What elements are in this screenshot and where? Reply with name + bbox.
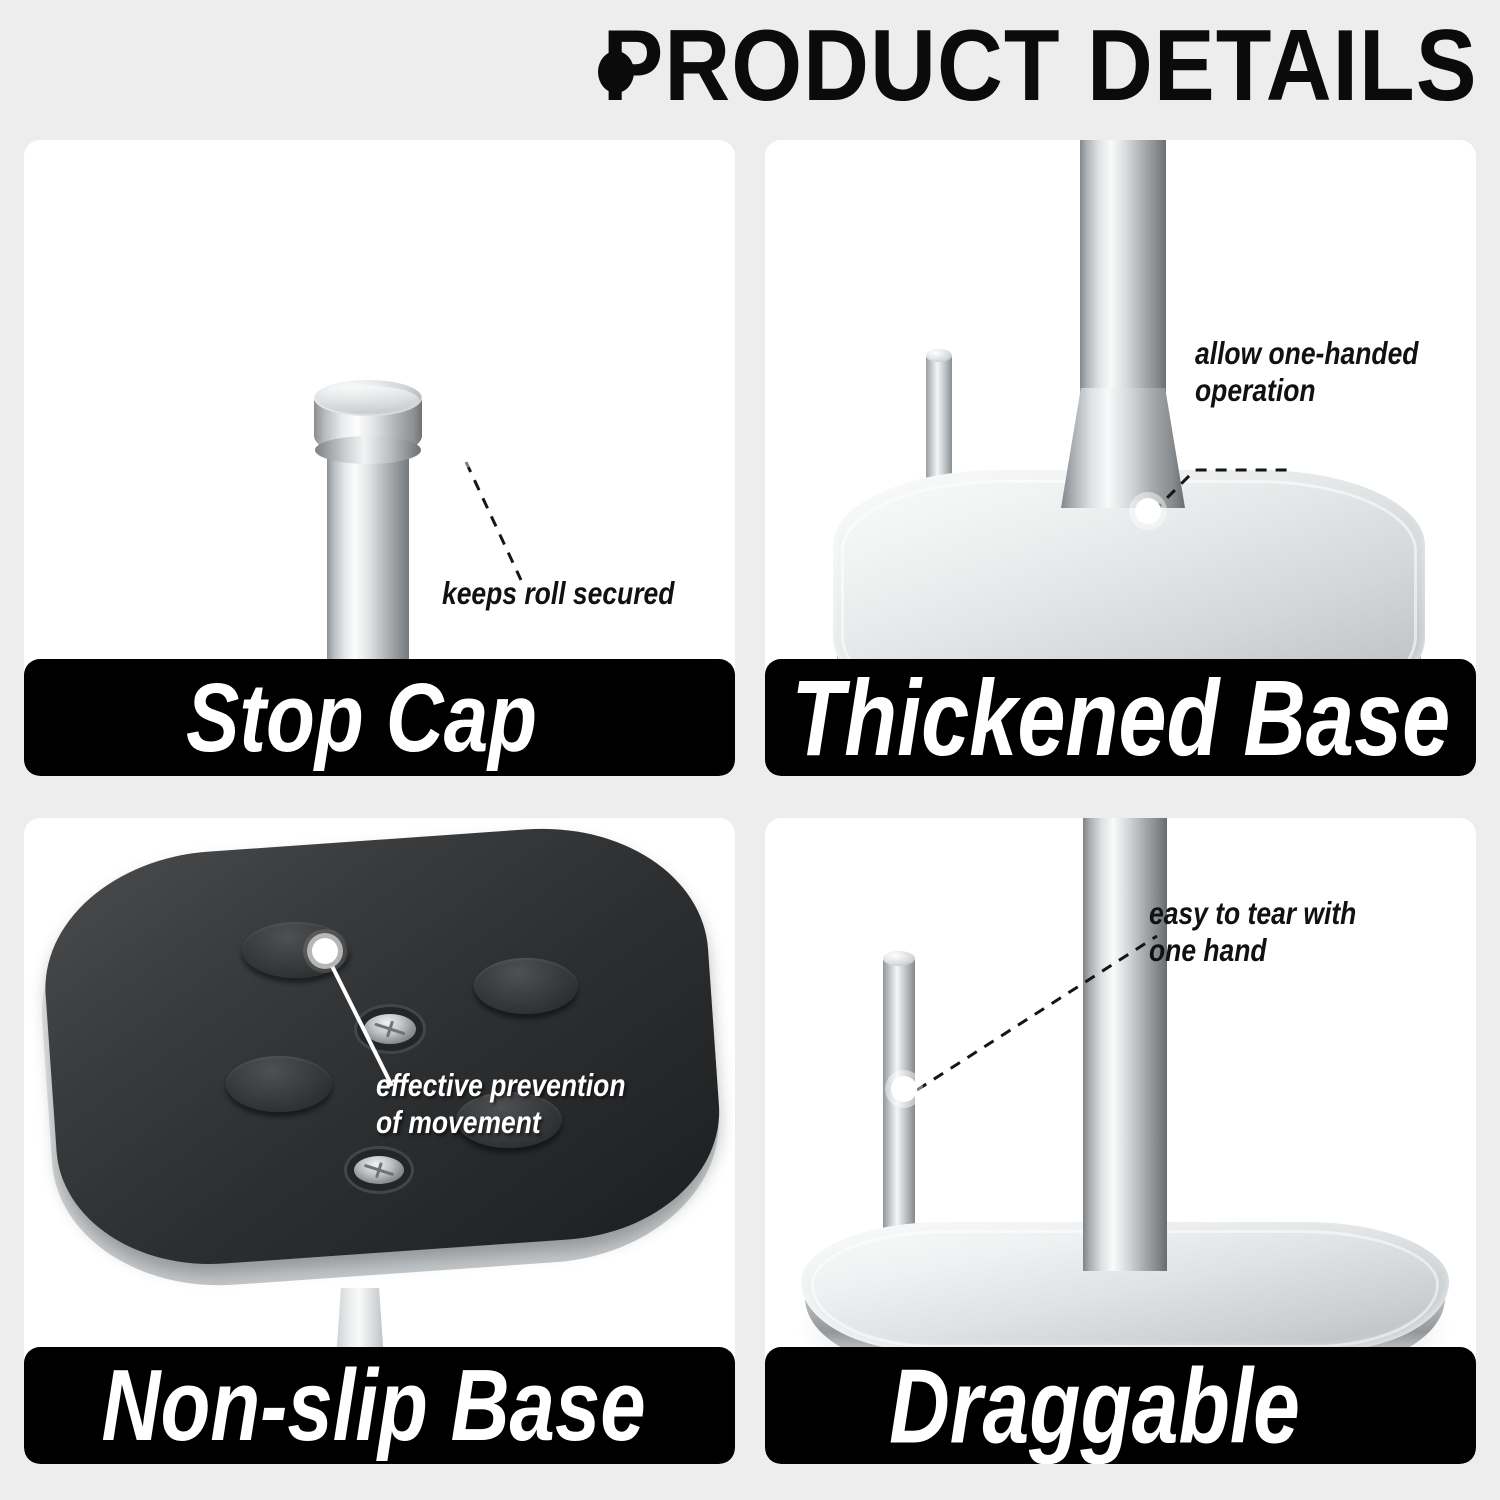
leader-line-stop-cap [24, 140, 735, 776]
callout-marker-dot [448, 437, 474, 463]
callout-marker-dot [891, 1076, 917, 1102]
draggable-illustration: easy to tear with one hand [765, 818, 1476, 1464]
leader-line-thickened-base [765, 140, 1476, 776]
thickened-base-illustration: allow one-handed operation [765, 140, 1476, 776]
leader-line-non-slip-base [24, 818, 735, 1464]
panel-non-slip-base: effective prevention of movement Non-sli… [24, 818, 735, 1464]
leader-line-draggable [765, 818, 1476, 1464]
callout-marker-dot [1135, 498, 1161, 524]
stop-cap-illustration: keeps roll secured [24, 140, 735, 776]
page-title: PRODUCT DETAILS [603, 15, 1478, 116]
callout-marker-dot [312, 938, 338, 964]
product-details-grid: keeps roll secured Stop Cap allow one-ha… [24, 140, 1476, 1446]
panel-thickened-base: allow one-handed operation Thickened Bas… [765, 140, 1476, 776]
non-slip-base-illustration: effective prevention of movement [24, 818, 735, 1464]
page-header: PRODUCT DETAILS [0, 0, 1500, 132]
panel-stop-cap: keeps roll secured Stop Cap [24, 140, 735, 776]
panel-draggable: easy to tear with one hand Draggable [765, 818, 1476, 1464]
